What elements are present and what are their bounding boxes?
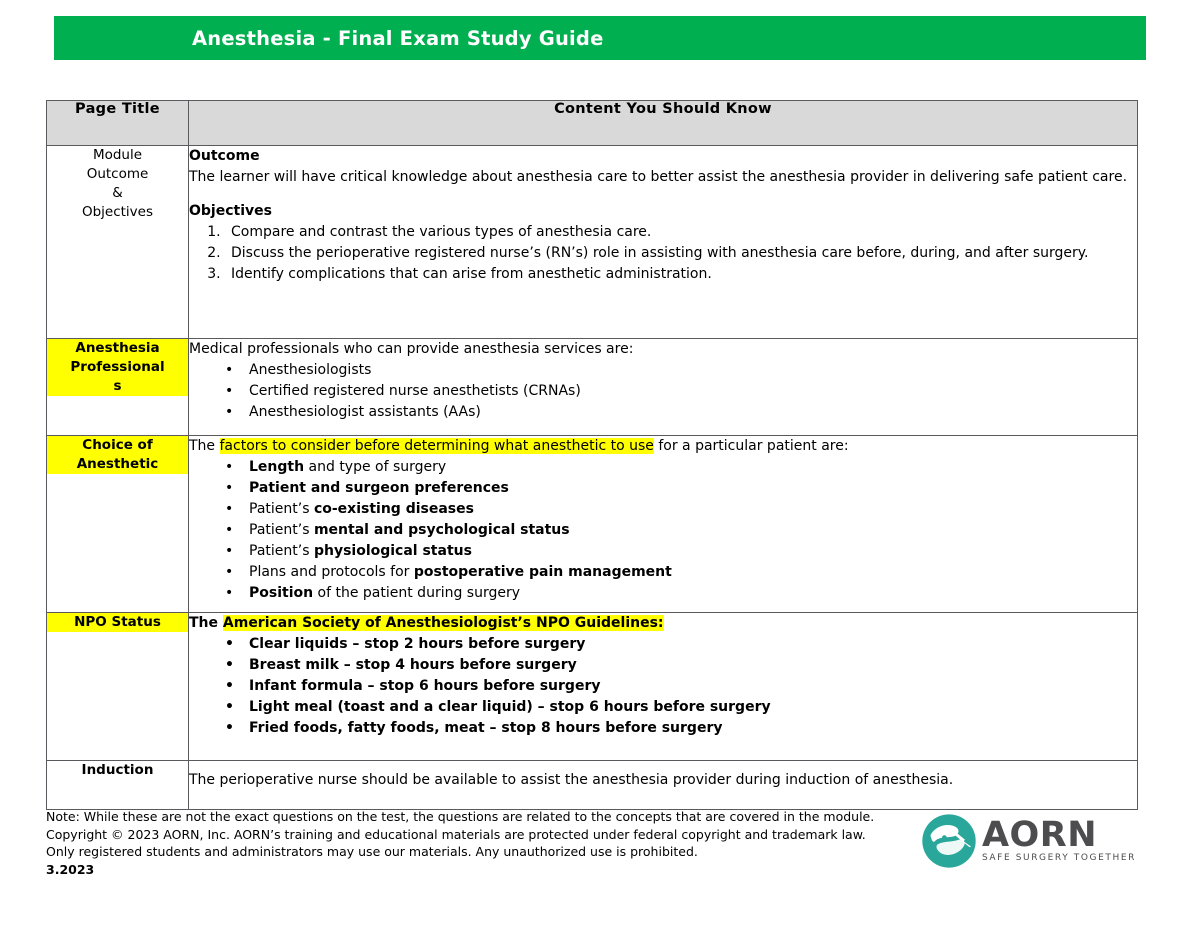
list-item: Discuss the perioperative registered nur… — [225, 243, 1137, 264]
choice-factors-list: Length and type of surgery Patient and s… — [189, 457, 1137, 604]
list-item: Infant formula – stop 6 hours before sur… — [225, 676, 1137, 697]
content-anesthesia-professionals: Medical professionals who can provide an… — [189, 339, 1138, 436]
list-item: Anesthesiologists — [225, 360, 1137, 381]
list-item: Clear liquids – stop 2 hours before surg… — [225, 634, 1137, 655]
aorn-tagline: SAFE SURGERY TOGETHER — [982, 853, 1136, 864]
page-title-line: s — [47, 377, 188, 396]
page-title-line: Induction — [47, 761, 188, 780]
list-item: Identify complications that can arise fr… — [225, 264, 1137, 285]
column-header-page-title: Page Title — [47, 101, 189, 146]
intro-text: The factors to consider before determini… — [189, 436, 1137, 457]
list-item: Length and type of surgery — [225, 457, 1137, 478]
page-title-line: NPO Status — [47, 613, 188, 632]
bullet-text: Patient’s — [249, 522, 314, 538]
page-footer: Note: While these are not the exact ques… — [46, 808, 1138, 878]
highlighted-text: factors to consider before determining w… — [220, 438, 654, 454]
bullet-emphasis: mental and psychological status — [314, 522, 570, 538]
footer-note-line: Note: While these are not the exact ques… — [46, 808, 874, 826]
footer-note: Note: While these are not the exact ques… — [46, 808, 874, 878]
highlighted-text: s — [113, 378, 121, 394]
highlighted-text: Choice of — [82, 437, 152, 453]
list-item: Compare and contrast the various types o… — [225, 222, 1137, 243]
outcome-text: The learner will have critical knowledge… — [189, 167, 1137, 188]
column-header-content: Content You Should Know — [189, 101, 1138, 146]
page-title-module-outcome: Module Outcome & Objectives — [47, 146, 189, 339]
highlighted-text: Anesthesia — [75, 340, 159, 356]
page-title-npo-status: NPO Status — [47, 613, 189, 761]
content-module-outcome: Outcome The learner will have critical k… — [189, 146, 1138, 339]
intro-suffix: for a particular patient are: — [654, 438, 849, 454]
list-item: Patient’s co-existing diseases — [225, 499, 1137, 520]
objectives-list: Compare and contrast the various types o… — [189, 222, 1137, 285]
bullet-emphasis: physiological status — [314, 543, 472, 559]
bullet-emphasis: Position — [249, 585, 313, 601]
list-item: Breast milk – stop 4 hours before surger… — [225, 655, 1137, 676]
page-title-line: Objectives — [47, 203, 188, 222]
highlighted-text: Professional — [70, 359, 164, 375]
footer-note-line: Only registered students and administrat… — [46, 843, 874, 861]
aorn-emblem-icon — [920, 812, 978, 870]
list-item: Position of the patient during surgery — [225, 583, 1137, 604]
bullet-text: and type of surgery — [304, 459, 446, 475]
content-npo-status: The American Society of Anesthesiologist… — [189, 613, 1138, 761]
page-title-line: Outcome — [47, 165, 188, 184]
spacer — [189, 188, 1137, 201]
bullet-emphasis: postoperative pain management — [414, 564, 672, 580]
list-item: Light meal (toast and a clear liquid) – … — [225, 697, 1137, 718]
content-choice-of-anesthetic: The factors to consider before determini… — [189, 436, 1138, 613]
page-title-choice-of-anesthetic: Choice of Anesthetic — [47, 436, 189, 613]
table-header-row: Page Title Content You Should Know — [47, 101, 1138, 146]
list-item: Fried foods, fatty foods, meat – stop 8 … — [225, 718, 1137, 739]
induction-text: The perioperative nurse should be availa… — [189, 770, 1137, 791]
bullet-text: Patient’s — [249, 543, 314, 559]
aorn-logo: AORN SAFE SURGERY TOGETHER — [920, 812, 1136, 870]
bullet-emphasis: co-existing diseases — [314, 501, 474, 517]
table-row-anesthesia-professionals: Anesthesia Professional s Medical profes… — [47, 339, 1138, 436]
bullet-emphasis: Patient and surgeon preferences — [249, 480, 509, 496]
study-guide-table: Page Title Content You Should Know Modul… — [46, 100, 1138, 810]
page-title-line: Professional — [47, 358, 188, 377]
list-item: Patient and surgeon preferences — [225, 478, 1137, 499]
content-induction: The perioperative nurse should be availa… — [189, 761, 1138, 810]
page-banner: Anesthesia - Final Exam Study Guide — [54, 16, 1146, 60]
bullet-emphasis: Length — [249, 459, 304, 475]
intro-text: The American Society of Anesthesiologist… — [189, 613, 1137, 634]
table-row-induction: Induction The perioperative nurse should… — [47, 761, 1138, 810]
footer-note-line: Copyright © 2023 AORN, Inc. AORN’s train… — [46, 826, 874, 844]
page-title-line: & — [47, 184, 188, 203]
objectives-heading: Objectives — [189, 201, 1137, 222]
outcome-heading: Outcome — [189, 146, 1137, 167]
intro-prefix: The — [189, 438, 220, 454]
professionals-list: Anesthesiologists Certified registered n… — [189, 360, 1137, 423]
page-title-induction: Induction — [47, 761, 189, 810]
page-title: Anesthesia - Final Exam Study Guide — [192, 27, 604, 50]
intro-text: Medical professionals who can provide an… — [189, 339, 1137, 360]
list-item: Plans and protocols for postoperative pa… — [225, 562, 1137, 583]
page-title-line: Choice of — [47, 436, 188, 455]
table-row-choice-of-anesthetic: Choice of Anesthetic The factors to cons… — [47, 436, 1138, 613]
bullet-text: Patient’s — [249, 501, 314, 517]
highlighted-text: Anesthetic — [77, 456, 159, 472]
table-row-npo-status: NPO Status The American Society of Anest… — [47, 613, 1138, 761]
page-title-anesthesia-professionals: Anesthesia Professional s — [47, 339, 189, 436]
document-version: 3.2023 — [46, 861, 874, 879]
list-item: Patient’s mental and psychological statu… — [225, 520, 1137, 541]
list-item: Anesthesiologist assistants (AAs) — [225, 402, 1137, 423]
highlighted-text: NPO Status — [74, 614, 161, 630]
highlighted-text: American Society of Anesthesiologist’s N… — [223, 615, 664, 631]
npo-guidelines-list: Clear liquids – stop 2 hours before surg… — [189, 634, 1137, 739]
list-item: Certified registered nurse anesthetists … — [225, 381, 1137, 402]
intro-prefix: The — [189, 615, 223, 631]
aorn-name: AORN — [982, 819, 1136, 852]
page-title-line: Anesthesia — [47, 339, 188, 358]
table-row-module-outcome: Module Outcome & Objectives Outcome The … — [47, 146, 1138, 339]
bullet-text: of the patient during surgery — [313, 585, 520, 601]
bullet-text: Plans and protocols for — [249, 564, 414, 580]
aorn-wordmark: AORN SAFE SURGERY TOGETHER — [982, 819, 1136, 864]
list-item: Patient’s physiological status — [225, 541, 1137, 562]
page-title-line: Anesthetic — [47, 455, 188, 474]
page-title-line: Module — [47, 146, 188, 165]
